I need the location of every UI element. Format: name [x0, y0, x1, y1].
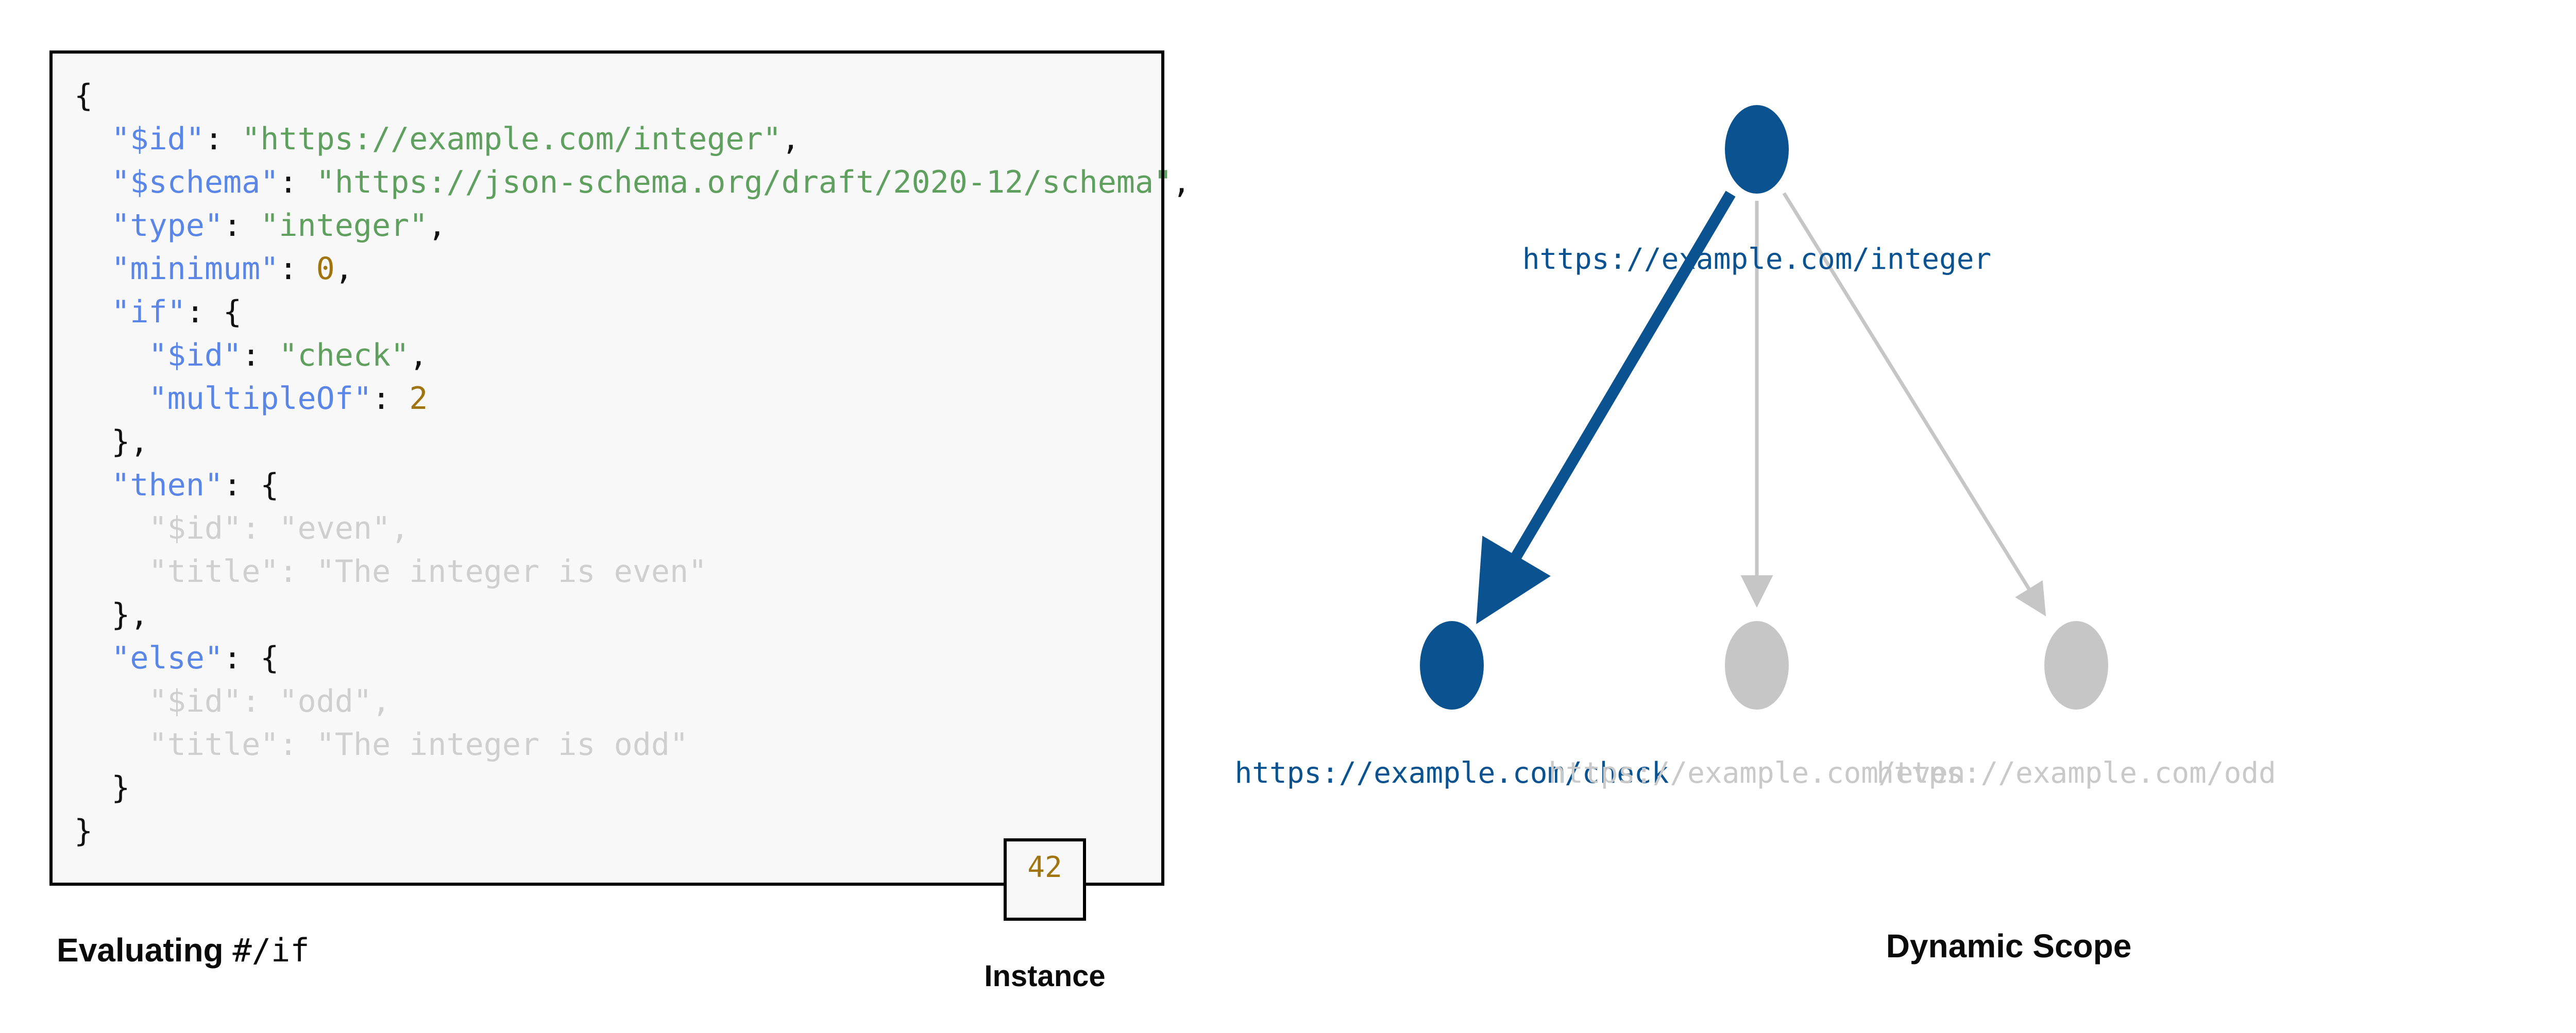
code-line: },: [74, 593, 1191, 636]
code-token: :: [372, 381, 409, 417]
code-line: },: [74, 420, 1191, 463]
left-panel-caption: Evaluating #/if: [57, 931, 310, 969]
code-token: "minimum": [111, 251, 279, 287]
code-token: ,: [428, 208, 446, 244]
code-line: "$id": "check",: [74, 334, 1191, 377]
instance-caption: Instance: [947, 959, 1143, 993]
graph-node-integer[interactable]: [1725, 105, 1789, 194]
dynamic-scope-panel: https://example.com/integerhttps://examp…: [1185, 0, 2576, 1033]
code-token: : {: [186, 294, 242, 330]
graph-node-check[interactable]: [1420, 621, 1484, 710]
code-line: "else": {: [74, 636, 1191, 680]
code-line: "$id": "https://example.com/integer",: [74, 117, 1191, 161]
code-line: "title": "The integer is odd": [74, 723, 1191, 766]
instance-box: 42: [1004, 838, 1086, 921]
code-line: "$id": "odd",: [74, 680, 1191, 723]
code-token: }: [111, 770, 130, 806]
code-token: {: [74, 78, 93, 114]
code-token: "$id": [111, 121, 205, 157]
code-token: :: [242, 337, 279, 373]
graph-node-label-integer: https://example.com/integer: [1522, 243, 1991, 276]
code-token: }: [74, 813, 93, 849]
code-token: "integer": [260, 208, 428, 244]
caption-pointer: #/if: [232, 932, 309, 969]
code-token: "$id": [149, 337, 242, 373]
evaluating-schema-panel: { "$id": "https://example.com/integer", …: [0, 0, 1185, 1033]
code-token: "check": [279, 337, 409, 373]
code-token: "title": "The integer is odd": [149, 727, 689, 763]
schema-code-listing: { "$id": "https://example.com/integer", …: [74, 74, 1191, 853]
code-line: "type": "integer",: [74, 204, 1191, 247]
code-line: "if": {: [74, 290, 1191, 334]
right-panel-caption: Dynamic Scope: [1185, 927, 2576, 965]
code-token: "$id": "odd",: [149, 683, 391, 719]
code-line: "$id": "even",: [74, 507, 1191, 550]
code-line: "then": {: [74, 463, 1191, 507]
code-token: :: [279, 251, 316, 287]
code-line: }: [74, 766, 1191, 810]
caption-prefix: Evaluating: [57, 932, 232, 969]
code-token: "https://example.com/integer": [242, 121, 782, 157]
graph-node-even[interactable]: [1725, 621, 1789, 710]
code-token: :: [223, 208, 260, 244]
code-token: ,: [409, 337, 428, 373]
code-token: ,: [1172, 164, 1191, 200]
code-token: ,: [335, 251, 353, 287]
code-token: ,: [782, 121, 800, 157]
code-token: "https://json-schema.org/draft/2020-12/s…: [316, 164, 1173, 200]
code-line: "minimum": 0,: [74, 247, 1191, 290]
code-line: "$schema": "https://json-schema.org/draf…: [74, 161, 1191, 204]
code-token: },: [111, 597, 148, 633]
code-token: "$id": "even",: [149, 510, 410, 546]
code-token: "multipleOf": [149, 381, 372, 417]
code-token: : {: [223, 467, 279, 503]
graph-node-label-odd: https://example.com/odd: [1876, 756, 2276, 790]
schema-code-box: { "$id": "https://example.com/integer", …: [49, 50, 1164, 886]
code-line: "multipleOf": 2: [74, 377, 1191, 420]
code-token: "if": [111, 294, 186, 330]
code-token: "type": [111, 208, 223, 244]
code-line: "title": "The integer is even": [74, 550, 1191, 593]
code-token: 0: [316, 251, 335, 287]
code-token: },: [111, 424, 148, 460]
instance-value: 42: [1027, 853, 1062, 882]
code-token: "$schema": [111, 164, 279, 200]
code-token: : {: [223, 640, 279, 676]
graph-node-odd[interactable]: [2044, 621, 2108, 710]
code-token: :: [205, 121, 242, 157]
dynamic-scope-graph: https://example.com/integerhttps://examp…: [1185, 0, 2576, 1033]
code-token: "then": [111, 467, 223, 503]
code-token: "title": "The integer is even": [149, 554, 707, 590]
code-token: :: [279, 164, 316, 200]
graph-nodes: [1420, 105, 2108, 710]
code-line: {: [74, 74, 1191, 117]
code-token: "else": [111, 640, 223, 676]
code-token: 2: [409, 381, 428, 417]
